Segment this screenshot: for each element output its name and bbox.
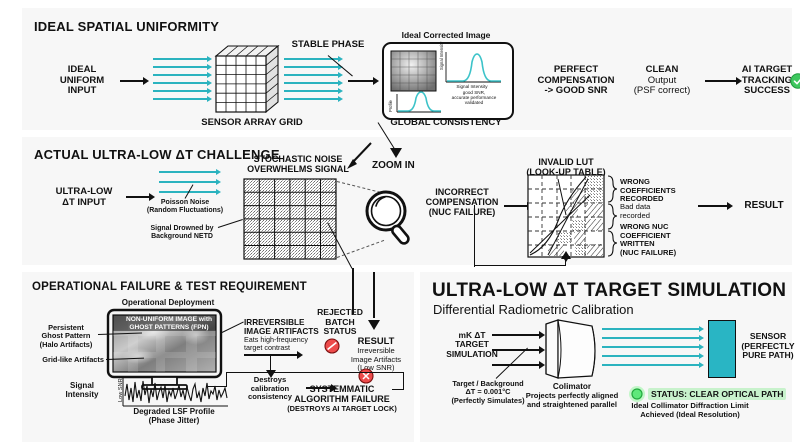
invalid-lut-graphic — [528, 175, 604, 257]
panel-title-middle: ACTUAL ULTRA-LOW ΔT CHALLENGE — [34, 147, 280, 162]
out-beam-3 — [602, 346, 700, 348]
beam-in-2 — [153, 66, 208, 68]
label-grid-artifacts: Grid-like Artifacts — [42, 356, 104, 364]
feedback-line-vertical-2 — [565, 257, 566, 266]
ideal-corrected-image-card — [382, 42, 514, 120]
error-cross-icon — [358, 368, 374, 384]
panel-title-top: IDEAL SPATIAL UNIFORMITY — [34, 19, 219, 34]
label-operational-deployment: Operational Deployment — [122, 299, 214, 308]
noise-beam-1 — [159, 171, 217, 173]
label-target-background: Target / Background ΔT = 0.001°C (Perfec… — [451, 380, 524, 405]
beam-out-3 — [284, 74, 339, 76]
check-circle-icon — [790, 73, 800, 89]
feedback-line-vertical — [474, 205, 475, 267]
label-systematic-failure: SYSTEMMATIC ALGORITHM FAILURE — [294, 384, 390, 404]
sim-arrow-1 — [492, 334, 540, 336]
connector-middle-to-bottom-arrow — [368, 318, 380, 330]
beam-in-4 — [153, 82, 208, 84]
label-chart-note: good SNR, accurate performance validated — [452, 90, 497, 105]
label-poisson-noise: Poisson Noise (Random Fluctuations) — [147, 199, 223, 215]
connector-bottom-result-up — [373, 272, 375, 318]
label-result-middle: RESULT — [744, 200, 783, 211]
out-beam-5 — [602, 364, 700, 366]
label-global-consistency: GLOBAL CONSISTENCY — [390, 118, 501, 129]
diagram-canvas: IDEAL SPATIAL UNIFORMITY IDEAL UNIFORM I… — [0, 0, 800, 447]
label-irreversible-artifacts: IRREVERSIBLE IMAGE ARTIFACTS — [244, 318, 319, 336]
connector-top-to-middle-arrow — [390, 146, 402, 158]
label-stochastic-noise: STOCHASTIC NOISE OVERWHELMS SIGNAL — [247, 154, 349, 174]
label-ultra-low-dt-input: ULTRA-LOW ΔT INPUT — [56, 187, 113, 208]
label-irreversible-sub: Eats high-frequency target contrast — [244, 336, 308, 352]
label-stable-phase: STABLE PHASE — [292, 40, 365, 51]
out-beam-4 — [602, 355, 700, 357]
arrow-input-to-noise-beams — [126, 196, 150, 198]
lsf-right-connector-v — [226, 372, 227, 386]
monitor-right-connector-v — [403, 372, 404, 390]
status-badge: STATUS: CLEAR OPTICAL PATH — [648, 388, 786, 400]
label-signal-intensity-bl: Signal Intensity — [66, 382, 99, 400]
monitor-right-connector-h — [226, 372, 404, 373]
label-clean-output: CLEAN Output (PSF correct) — [634, 65, 690, 97]
panel-ideal-spatial-uniformity: IDEAL SPATIAL UNIFORMITY IDEAL UNIFORM I… — [22, 8, 792, 130]
zoom-in-arrow — [343, 141, 373, 171]
noise-beam-2 — [159, 181, 217, 183]
systematic-right-connector — [392, 389, 404, 390]
label-sensor: SENSOR (PERFECTLY PURE PATH) — [741, 332, 794, 361]
collimator-graphic — [540, 320, 604, 382]
beam-out-5 — [284, 90, 339, 92]
panel-title-bottom-right: ULTRA-LOW ΔT TARGET SIMULATION — [432, 280, 786, 302]
label-signal-drowned: Signal Drowned by Background NETD — [150, 225, 213, 241]
leader-drowned — [218, 219, 243, 228]
beam-in-5 — [153, 90, 208, 92]
beam-out-2 — [284, 66, 339, 68]
panel-ultra-low-dt-target-simulation: ULTRA-LOW ΔT TARGET SIMULATION Different… — [420, 272, 792, 442]
label-wrong-coefficients: WRONG COEFFICIENTS RECORDED — [620, 178, 676, 204]
label-signal-intensity-y: Signal Intensity — [440, 42, 445, 70]
label-profile-axis: Profile — [389, 100, 394, 112]
sensor-array-grid-graphic — [216, 46, 278, 114]
arrow-to-result-middle — [698, 205, 728, 207]
beam-out-6 — [284, 98, 339, 100]
label-systematic-failure-sub: (DESTROYS AI TARGET LOCK) — [287, 405, 397, 413]
feedback-line-horizontal — [474, 265, 566, 266]
arrow-input-to-beams — [120, 80, 144, 82]
label-perfect-compensation: PERFECT COMPENSATION -> GOOD SNR — [538, 65, 615, 97]
label-wrong-nuc: WRONG NUC COEFFICIENT WRITTEN (NUC FAILU… — [620, 223, 676, 257]
label-ideal-corrected-image: Ideal Corrected Image — [402, 31, 491, 41]
label-incorrect-compensation: INCORRECT COMPENSATION (NUC FAILURE) — [426, 187, 499, 217]
out-beam-2 — [602, 337, 700, 339]
label-mk-target-simulation: mK ΔT TARGET SIMULATION — [446, 331, 497, 359]
label-status-sub: Ideal Collimator Diffraction Limit Achie… — [631, 402, 748, 419]
label-ideal-uniform-input: IDEAL UNIFORM INPUT — [60, 65, 104, 97]
connector-middle-to-bottom — [352, 268, 354, 314]
sim-arrow-2 — [492, 349, 540, 351]
noise-grid-graphic — [244, 179, 336, 259]
label-screen-text: NON-UNIFORM IMAGE with GHOST PATTERNS (F… — [126, 316, 212, 332]
panel-title-bottom-left: OPERATIONAL FAILURE & TEST REQUIREMENT — [32, 281, 307, 293]
label-collimator-sub: Projects perfectly aligned and straighte… — [526, 392, 618, 409]
label-signal-intensity-x: Signal Intensity — [456, 84, 487, 89]
label-subtitle-bottom-right: Differential Radiometric Calibration — [433, 303, 634, 318]
arrow-to-lut — [504, 205, 528, 207]
label-lsf-caption: Degraded LSF Profile (Phase Jitter) — [133, 408, 214, 426]
lsf-profile-chart — [121, 376, 229, 408]
panel-actual-ultra-low-dt-challenge: ACTUAL ULTRA-LOW ΔT CHALLENGE ULTRA-LOW … — [22, 137, 792, 265]
label-rejected-batch: REJECTED BATCH STATUS — [317, 308, 363, 337]
lut-brackets — [606, 175, 618, 259]
label-destroys-calibration: Destroys calibration consistency — [248, 376, 292, 402]
lsf-right-connector-h — [208, 386, 227, 387]
label-bad-data: Bad data recorded — [620, 203, 650, 220]
magnifier-icon — [362, 187, 414, 249]
beam-in-1 — [153, 58, 208, 60]
beam-in-6 — [153, 98, 208, 100]
out-beam-1 — [602, 328, 700, 330]
arrow-to-corrected-image — [348, 80, 374, 82]
no-entry-icon — [324, 338, 340, 354]
beam-out-4 — [284, 82, 339, 84]
label-zoom-in: ZOOM IN — [372, 160, 415, 171]
beam-in-3 — [153, 74, 208, 76]
label-persistent-ghost: Persistent Ghost Pattern (Halo Artifacts… — [40, 324, 93, 349]
label-collimator: Colimator — [553, 382, 591, 391]
arrow-to-ai-success — [705, 80, 737, 82]
sensor-block — [708, 320, 736, 378]
label-sensor-array-grid: SENSOR ARRAY GRID — [201, 118, 303, 129]
panel-operational-failure: OPERATIONAL FAILURE & TEST REQUIREMENT O… — [22, 272, 414, 442]
sim-arrow-3 — [492, 364, 540, 366]
label-result-bl: RESULT — [358, 336, 395, 347]
label-ai-target-success: AI TARGET TRACKING SUCCESS — [742, 65, 793, 97]
